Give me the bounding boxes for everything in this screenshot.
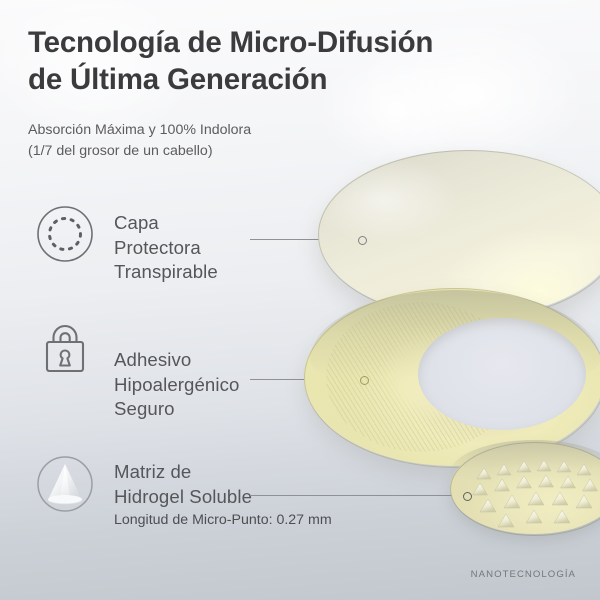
- infographic-canvas: Tecnología de Micro-Difusión de Última G…: [0, 0, 600, 600]
- footer-caption: Nanotecnología: [471, 569, 576, 580]
- dotted-circle-icon: [36, 205, 94, 263]
- patch-layers-illustration: [300, 140, 600, 560]
- anchor-dot-protective-layer: [358, 236, 367, 245]
- micro-point-length-note: Longitud de Micro-Punto: 0.27 mm: [114, 511, 332, 529]
- padlock-icon: [36, 322, 94, 380]
- feature-texts: Capa Protectora Transpirable: [114, 211, 218, 285]
- feature-label: Adhesivo Hipoalergénico Seguro: [114, 348, 239, 422]
- anchor-dot-hydrogel-matrix: [463, 492, 472, 501]
- anchor-dot-adhesive: [360, 376, 369, 385]
- page-title: Tecnología de Micro-Difusión de Última G…: [28, 24, 548, 98]
- microneedle-cone-icon: [36, 455, 94, 513]
- feature-label: Matriz de Hidrogel Soluble: [114, 460, 332, 509]
- feature-texts: Adhesivo Hipoalergénico Seguro: [114, 348, 239, 422]
- feature-label: Capa Protectora Transpirable: [114, 211, 218, 285]
